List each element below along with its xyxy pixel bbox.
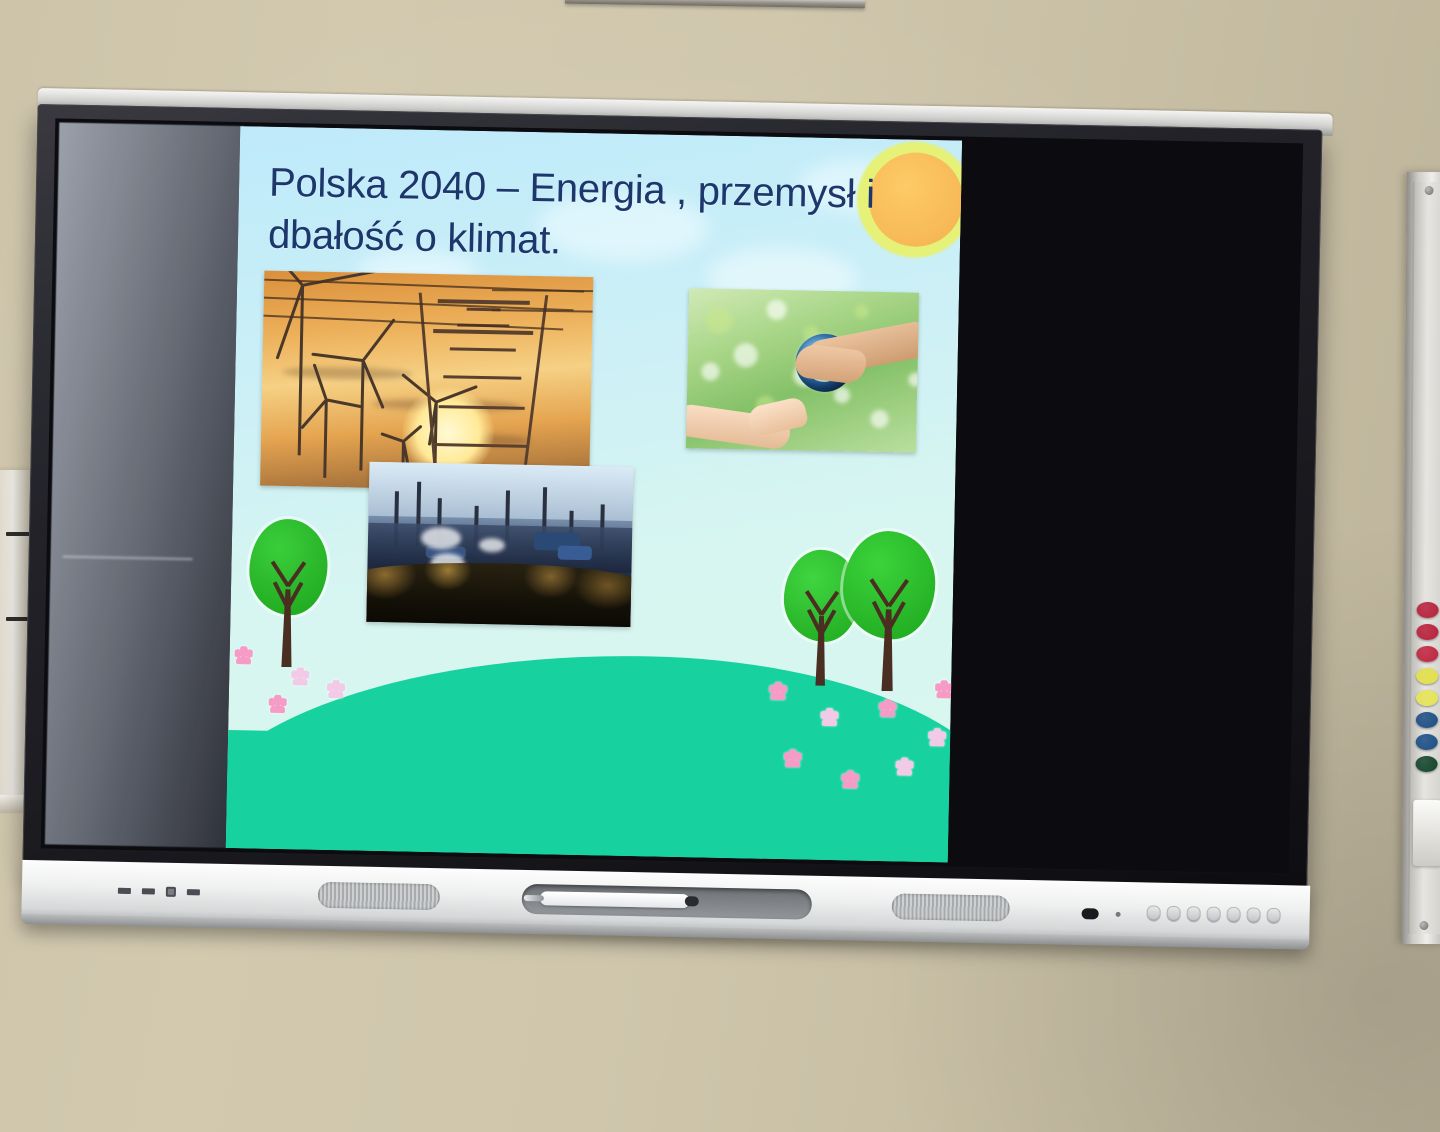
function-key[interactable] (1228, 908, 1240, 922)
speaker-grille-right (891, 893, 1009, 921)
bokeh-circle (908, 373, 919, 387)
magnet[interactable] (1416, 756, 1438, 772)
speaker-grille-left (318, 882, 440, 910)
wind-turbine (358, 361, 364, 471)
magnet[interactable] (1416, 624, 1438, 640)
function-key[interactable] (1247, 908, 1259, 922)
bokeh-circle (767, 299, 787, 319)
whiteboard-right (1401, 172, 1440, 944)
flower-decoration (784, 749, 802, 767)
bokeh-circle (834, 387, 850, 403)
bokeh-circle (854, 304, 868, 318)
function-key[interactable] (1208, 908, 1220, 922)
screen-glare (45, 122, 244, 848)
flower-decoration (841, 770, 859, 788)
flower-group (240, 126, 962, 140)
magnet[interactable] (1417, 602, 1439, 618)
bokeh-circle (701, 362, 719, 380)
flower-decoration (879, 699, 897, 717)
flower-decoration (269, 695, 287, 713)
screw-icon (1425, 186, 1434, 195)
flower-decoration (928, 728, 946, 746)
magnet[interactable] (1416, 668, 1438, 684)
stylus-pen[interactable] (540, 891, 690, 908)
display-panel[interactable]: Polska 2040 – Energia , przemysł i dbało… (41, 118, 1303, 873)
tree-left (247, 518, 328, 668)
flower-decoration (291, 667, 309, 685)
board-mark (6, 532, 30, 536)
interactive-whiteboard-display[interactable]: Polska 2040 – Energia , przemysł i dbało… (21, 88, 1333, 959)
function-key[interactable] (1267, 909, 1279, 923)
power-button[interactable] (1082, 908, 1099, 919)
flower-decoration (769, 682, 787, 700)
board-eraser[interactable] (1413, 800, 1440, 866)
flower-decoration (234, 646, 252, 664)
presentation-slide[interactable]: Polska 2040 – Energia , przemysł i dbało… (226, 126, 962, 862)
magnet[interactable] (1416, 712, 1438, 728)
wind-turbine (322, 400, 328, 478)
function-key[interactable] (1188, 907, 1200, 921)
screw-icon (1419, 921, 1428, 930)
slide-background: Polska 2040 – Energia , przemysł i dbało… (226, 126, 962, 862)
tree-right-large (841, 530, 936, 692)
magnet[interactable] (1416, 734, 1438, 750)
industrial-plant-photo (366, 462, 633, 627)
bokeh-circle (707, 308, 734, 335)
port-cluster[interactable] (118, 886, 200, 898)
usb-port[interactable] (118, 888, 131, 894)
hdmi-port[interactable] (166, 887, 176, 897)
hands-holding-earth-photo (686, 288, 919, 453)
stylus-tray[interactable] (522, 884, 813, 920)
bokeh-circle (870, 410, 888, 428)
flower-decoration (327, 680, 345, 698)
bokeh-circle (734, 343, 758, 367)
ground-base (226, 730, 950, 862)
function-key-row[interactable] (1148, 906, 1280, 923)
usb-port[interactable] (142, 888, 155, 894)
flower-decoration (895, 757, 913, 775)
function-key[interactable] (1148, 906, 1160, 920)
wind-turbines-photo (260, 271, 593, 493)
magnet[interactable] (1416, 646, 1438, 662)
magnet[interactable] (1416, 690, 1438, 706)
slide-title: Polska 2040 – Energia , przemysł i dbało… (268, 157, 910, 274)
function-key[interactable] (1168, 907, 1180, 921)
flower-decoration (935, 680, 953, 698)
flower-decoration (820, 708, 838, 726)
display-bezel: Polska 2040 – Energia , przemysł i dbało… (22, 104, 1322, 890)
status-led (1116, 912, 1121, 917)
usb-port[interactable] (187, 889, 200, 895)
